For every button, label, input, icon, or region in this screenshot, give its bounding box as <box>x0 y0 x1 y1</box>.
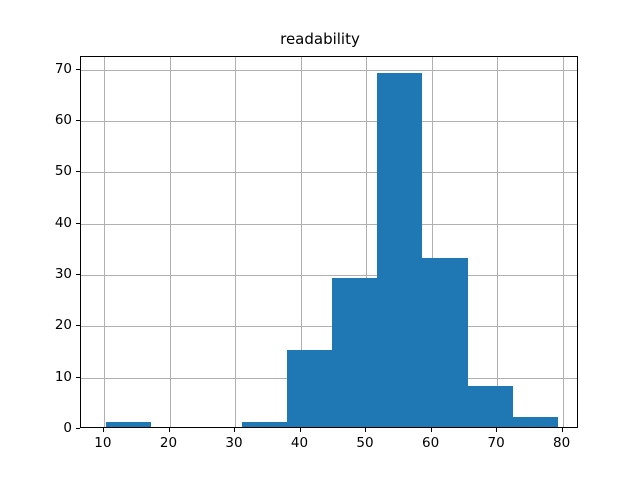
chart-figure: readability 010203040506070 102030405060… <box>0 0 640 480</box>
y-axis-tick-label: 70 <box>32 62 72 76</box>
x-axis-tick-mark <box>365 428 366 432</box>
x-axis-tick-mark <box>496 428 497 432</box>
y-axis-tick-label: 30 <box>32 267 72 281</box>
x-axis-tick-mark <box>103 428 104 432</box>
x-axis-tick-mark <box>234 428 235 432</box>
histogram-bar <box>106 422 151 427</box>
x-axis-tick-mark <box>431 428 432 432</box>
y-axis-tick-label: 10 <box>32 370 72 384</box>
x-axis-tick-label: 60 <box>409 435 453 451</box>
x-axis-tick-label: 80 <box>540 435 584 451</box>
x-axis-tick-label: 10 <box>81 435 125 451</box>
chart-title: readability <box>0 30 640 48</box>
histogram-bar <box>242 422 287 427</box>
histogram-bar <box>513 417 558 427</box>
x-axis-tick-mark <box>562 428 563 432</box>
x-axis-tick-label: 40 <box>278 435 322 451</box>
y-axis-tick-label: 50 <box>32 164 72 178</box>
histogram-bar <box>287 350 332 427</box>
y-axis-tick-label: 60 <box>32 113 72 127</box>
histogram-bar <box>332 278 377 427</box>
x-axis-tick-label: 20 <box>147 435 191 451</box>
histogram-bar <box>377 73 422 427</box>
x-axis-tick-label: 50 <box>343 435 387 451</box>
y-axis-tick-label: 0 <box>32 421 72 435</box>
x-axis-tick-label: 30 <box>212 435 256 451</box>
x-axis-tick-mark <box>300 428 301 432</box>
y-axis-tick-mark <box>76 428 80 429</box>
x-axis-tick-mark <box>169 428 170 432</box>
y-axis-tick-label: 20 <box>32 318 72 332</box>
plot-area <box>80 56 578 428</box>
histogram-bars <box>81 57 577 427</box>
histogram-bar <box>422 258 467 427</box>
y-axis-tick-label: 40 <box>32 216 72 230</box>
histogram-bar <box>468 386 513 427</box>
x-axis-tick-label: 70 <box>474 435 518 451</box>
